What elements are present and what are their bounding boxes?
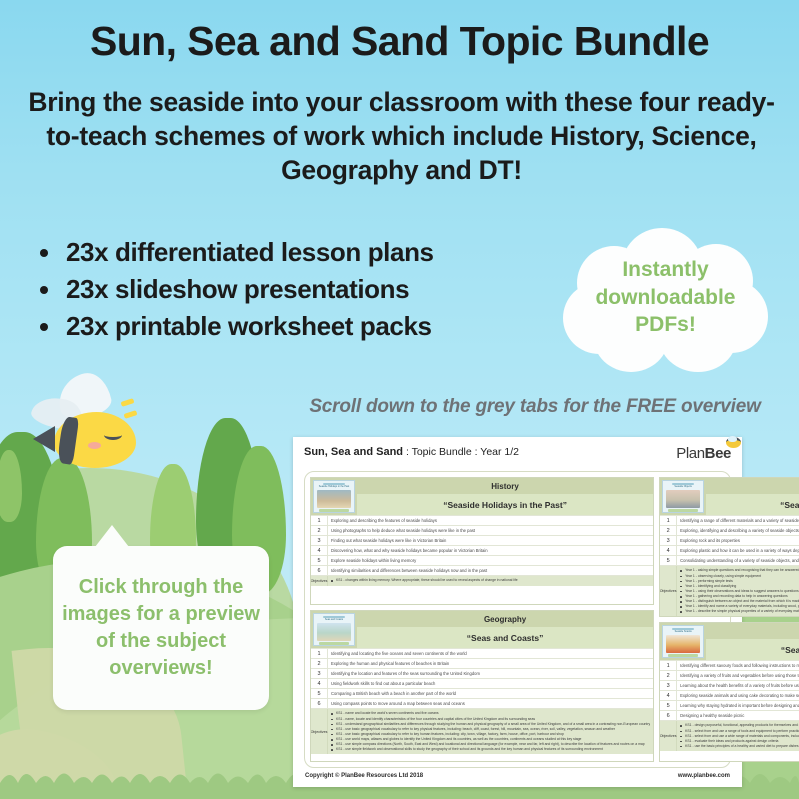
- scroll-caption: Scroll down to the grey tabs for the FRE…: [300, 396, 770, 418]
- row-text: Exploring and describing the features of…: [328, 517, 653, 525]
- row-text: Identifying different savoury foods and …: [677, 662, 799, 670]
- panel-thumbnail: Seas and Coasts: [313, 613, 355, 646]
- table-row: 1Identifying and locating the five ocean…: [311, 648, 653, 658]
- panel-thumbnail: Seaside Holidays in the Past: [313, 480, 355, 513]
- row-number: 4: [660, 691, 677, 700]
- objectives-row: Objectives KS1 - name and locate the wor…: [311, 708, 653, 754]
- panel-thumbnail: Seaside Snacks: [662, 625, 704, 658]
- row-text: Finding out what seaside holidays were l…: [328, 537, 653, 545]
- row-number: 6: [311, 566, 328, 575]
- panel-topic: “Seaside Holidays in the Past”: [357, 494, 653, 515]
- bee-motion-dash-1: [121, 398, 135, 407]
- objective-item: KS1 - changes within living memory. Wher…: [331, 578, 650, 583]
- row-number: 1: [311, 649, 328, 658]
- panel-titles: Science “Seaside Objects”: [706, 478, 799, 515]
- table-row: 2Exploring the human and physical featur…: [311, 658, 653, 668]
- planbee-logo: PlanBee: [676, 446, 731, 461]
- cloud-badge: Instantly downloadable PDFs!: [563, 228, 768, 373]
- thumb-title: Seaside Snacks: [667, 631, 699, 633]
- website-url[interactable]: www.planbee.com: [678, 773, 730, 779]
- speech-bubble-label: Click through the images for a preview o…: [53, 574, 269, 683]
- feature-bullet-list: 23x differentiated lesson plans 23x slid…: [36, 234, 434, 346]
- subject-panel-science[interactable]: Seaside Objects Science “Seaside Objects…: [659, 477, 799, 617]
- cloud-badge-label: Instantly downloadable PDFs!: [563, 256, 768, 339]
- row-number: 3: [660, 681, 677, 690]
- document-body: Seaside Holidays in the Past History “Se…: [304, 471, 731, 768]
- row-text: Identifying similarities and differences…: [328, 567, 653, 575]
- panel-subject: DT: [706, 623, 799, 639]
- table-row: 4Discovering how, what and why seaside h…: [311, 545, 653, 555]
- objectives-row: Objectives KS1 - design purposeful, func…: [660, 720, 799, 751]
- panel-header: Seaside Holidays in the Past History “Se…: [311, 478, 653, 515]
- row-text: Identifying a range of different materia…: [677, 517, 799, 525]
- page-title: Sun, Sea and Sand Topic Bundle: [0, 18, 799, 65]
- objective-item: Year 1 - describe the simple physical pr…: [680, 609, 799, 614]
- subject-panel-geography[interactable]: Seas and Coasts Geography “Seas and Coas…: [310, 610, 654, 762]
- row-text: Using photographs to help deduce what se…: [328, 527, 653, 535]
- row-number: 6: [311, 699, 328, 708]
- objectives-label: Objectives: [660, 566, 677, 616]
- row-text: Using compass points to move around a ma…: [328, 700, 653, 708]
- table-row: 4Exploring seaside animals and using cak…: [660, 690, 799, 700]
- row-text: Consolidating understanding of a variety…: [677, 557, 799, 565]
- table-row: 2Identifying a variety of fruits and veg…: [660, 670, 799, 680]
- bee-illustration: [24, 372, 142, 477]
- list-item: 23x differentiated lesson plans: [36, 234, 434, 271]
- panel-titles: History “Seaside Holidays in the Past”: [357, 478, 653, 515]
- row-number: 1: [660, 516, 677, 525]
- row-number: 3: [311, 536, 328, 545]
- objectives-label: Objectives: [660, 721, 677, 751]
- row-number: 2: [660, 671, 677, 680]
- row-text: Exploring rock and its properties: [677, 537, 799, 545]
- row-text: Identifying and locating the five oceans…: [328, 650, 653, 658]
- objective-item: KS1 - use the basic principles of a heal…: [680, 744, 799, 749]
- bee-icon: [726, 437, 741, 448]
- row-text: Identifying a variety of fruits and vege…: [677, 672, 799, 680]
- panel-thumbnail: Seaside Objects: [662, 480, 704, 513]
- panel-topic: “Seaside Snacks”: [706, 639, 799, 660]
- table-row: 6Using compass points to move around a m…: [311, 698, 653, 708]
- table-row: 4Using fieldwork skills to find out abou…: [311, 678, 653, 688]
- subject-panel-dt[interactable]: Seaside Snacks DT “Seaside Snacks” 1Iden…: [659, 622, 799, 762]
- row-text: Exploring the human and physical feature…: [328, 660, 653, 668]
- row-number: 2: [311, 526, 328, 535]
- thumb-footer: [319, 642, 349, 645]
- panel-header: Seaside Snacks DT “Seaside Snacks”: [660, 623, 799, 660]
- table-row: 2Exploring, identifying and describing a…: [660, 525, 799, 535]
- bee-eye: [104, 430, 122, 440]
- row-number: 5: [311, 689, 328, 698]
- panel-topic: “Seas and Coasts”: [357, 627, 653, 648]
- lesson-rows: 1Exploring and describing the features o…: [311, 515, 653, 585]
- thumb-title: Seaside Objects: [667, 486, 699, 488]
- panel-titles: Geography “Seas and Coasts”: [357, 611, 653, 648]
- row-number: 5: [311, 556, 328, 565]
- panel-subject: History: [357, 478, 653, 494]
- row-text: Exploring, identifying and describing a …: [677, 527, 799, 535]
- document-title: Sun, Sea and Sand : Topic Bundle : Year …: [304, 446, 519, 458]
- row-text: Learning about the health benefits of a …: [677, 682, 799, 690]
- panel-topic: “Seaside Objects”: [706, 494, 799, 515]
- table-row: 2Using photographs to help deduce what s…: [311, 525, 653, 535]
- thumb-footer: [668, 654, 698, 657]
- document-header: Sun, Sea and Sand : Topic Bundle : Year …: [304, 446, 731, 468]
- lesson-rows: 1Identifying a range of different materi…: [660, 515, 799, 616]
- bee-motion-dash-2: [124, 410, 138, 419]
- speech-bubble-tail: [95, 525, 129, 547]
- row-text: Learning why staying hydrated is importa…: [677, 702, 799, 710]
- brand-light: Plan: [676, 445, 704, 462]
- row-number: 4: [311, 679, 328, 688]
- objectives-list: KS1 - changes within living memory. Wher…: [328, 576, 653, 585]
- row-number: 1: [311, 516, 328, 525]
- row-text: Discovering how, what and why seaside ho…: [328, 547, 653, 555]
- row-text: Using fieldwork skills to find out about…: [328, 680, 653, 688]
- table-row: 1Identifying a range of different materi…: [660, 515, 799, 525]
- thumb-footer: [319, 509, 349, 512]
- panel-titles: DT “Seaside Snacks”: [706, 623, 799, 660]
- row-number: 5: [660, 556, 677, 565]
- table-row: 5Consolidating understanding of a variet…: [660, 555, 799, 565]
- row-text: Exploring seaside animals and using cake…: [677, 692, 799, 700]
- row-text: Exploring plastic and how it can be used…: [677, 547, 799, 555]
- document-title-bold: Sun, Sea and Sand: [304, 446, 403, 458]
- row-number: 6: [660, 711, 677, 720]
- subject-panel-history[interactable]: Seaside Holidays in the Past History “Se…: [310, 477, 654, 605]
- table-row: 6Identifying similarities and difference…: [311, 565, 653, 575]
- list-item: 23x slideshow presentations: [36, 271, 434, 308]
- table-row: 6Designing a healthy seaside picnic: [660, 710, 799, 720]
- row-number: 5: [660, 701, 677, 710]
- row-number: 2: [311, 659, 328, 668]
- thumb-footer: [668, 509, 698, 512]
- objectives-label: Objectives: [311, 709, 328, 754]
- table-row: 1Identifying different savoury foods and…: [660, 660, 799, 670]
- table-row: 3Exploring rock and its properties: [660, 535, 799, 545]
- row-number: 2: [660, 526, 677, 535]
- objectives-list: KS1 - name and locate the world's seven …: [328, 709, 653, 754]
- bee-tail: [33, 426, 55, 452]
- table-row: 3Finding out what seaside holidays were …: [311, 535, 653, 545]
- table-row: 5Explore seaside holidays within living …: [311, 555, 653, 565]
- document-footer: Copyright © PlanBee Resources Ltd 2018 w…: [304, 768, 731, 779]
- document-column-left: Seaside Holidays in the Past History “Se…: [310, 477, 654, 762]
- row-text: Designing a healthy seaside picnic: [677, 712, 799, 720]
- copyright-text: Copyright © PlanBee Resources Ltd 2018: [305, 773, 423, 779]
- objectives-label: Objectives: [311, 576, 328, 585]
- thumb-title: Seaside Holidays in the Past: [318, 486, 350, 488]
- panel-header: Seas and Coasts Geography “Seas and Coas…: [311, 611, 653, 648]
- panel-subject: Geography: [357, 611, 653, 627]
- row-number: 3: [660, 536, 677, 545]
- objectives-row: Objectives KS1 - changes within living m…: [311, 575, 653, 585]
- table-row: 5Learning why staying hydrated is import…: [660, 700, 799, 710]
- thumb-title: Seas and Coasts: [318, 619, 350, 621]
- objectives-list: KS1 - design purposeful, functional, app…: [677, 721, 799, 751]
- document-title-rest: : Topic Bundle : Year 1/2: [403, 446, 519, 458]
- row-number: 3: [311, 669, 328, 678]
- row-text: Comparing a British beach with a beach i…: [328, 690, 653, 698]
- document-column-right: Seaside Objects Science “Seaside Objects…: [659, 477, 799, 762]
- row-number: 1: [660, 661, 677, 670]
- row-text: Explore seaside holidays within living m…: [328, 557, 653, 565]
- panel-subject: Science: [706, 478, 799, 494]
- row-number: 4: [660, 546, 677, 555]
- lesson-rows: 1Identifying different savoury foods and…: [660, 660, 799, 751]
- row-text: Identifying the location and features of…: [328, 670, 653, 678]
- objective-item: KS1 - use simple fieldwork and observati…: [331, 747, 650, 752]
- table-row: 1Exploring and describing the features o…: [311, 515, 653, 525]
- lesson-rows: 1Identifying and locating the five ocean…: [311, 648, 653, 754]
- table-row: 3Identifying the location and features o…: [311, 668, 653, 678]
- document-preview[interactable]: Sun, Sea and Sand : Topic Bundle : Year …: [293, 437, 742, 787]
- objectives-list: Year 1 - asking simple questions and rec…: [677, 566, 799, 616]
- table-row: 5Comparing a British beach with a beach …: [311, 688, 653, 698]
- preview-speech-bubble: Click through the images for a preview o…: [53, 546, 269, 710]
- table-row: 3Learning about the health benefits of a…: [660, 680, 799, 690]
- panel-header: Seaside Objects Science “Seaside Objects…: [660, 478, 799, 515]
- table-row: 4Exploring plastic and how it can be use…: [660, 545, 799, 555]
- bee-cheek: [88, 442, 101, 449]
- objectives-row: Objectives Year 1 - asking simple questi…: [660, 565, 799, 616]
- list-item: 23x printable worksheet packs: [36, 308, 434, 345]
- row-number: 4: [311, 546, 328, 555]
- brand-bold: Bee: [705, 445, 731, 462]
- subheadline: Bring the seaside into your classroom wi…: [28, 86, 775, 188]
